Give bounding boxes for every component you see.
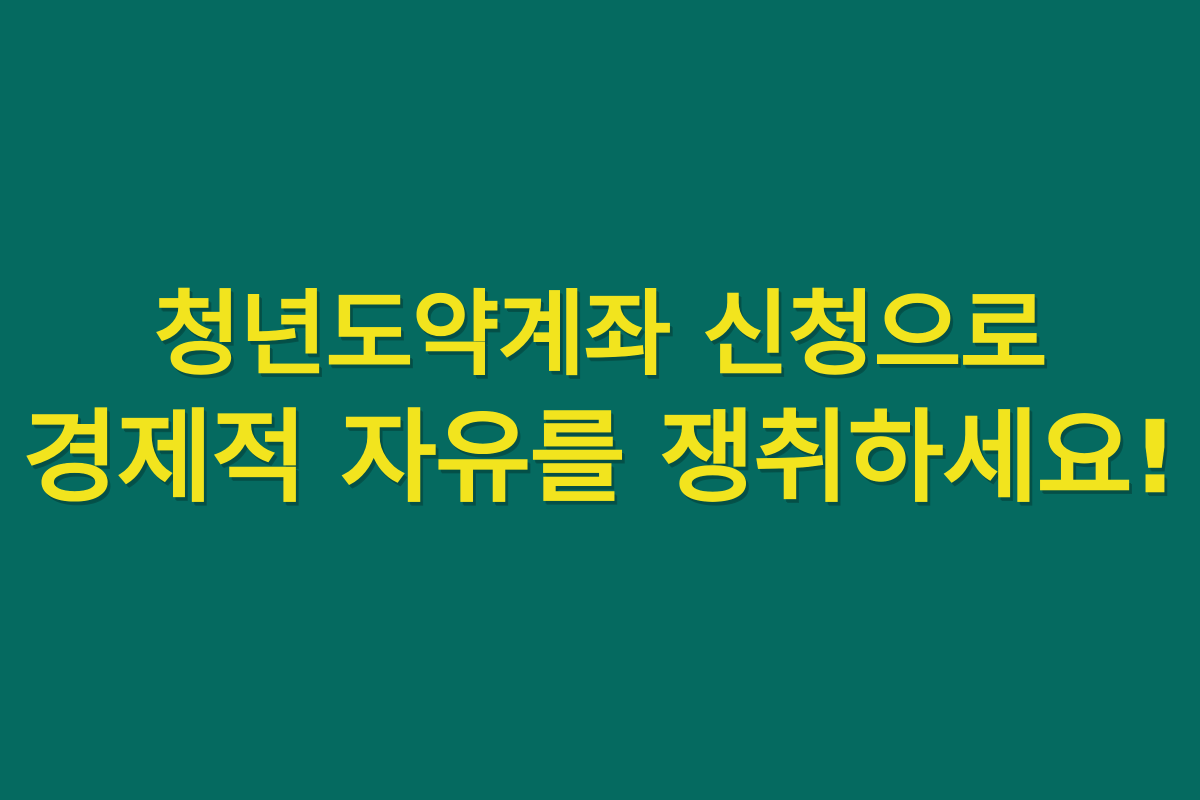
headline-line-2: 경제적 자유를 쟁취하세요! — [0, 398, 1200, 518]
headline-block: 청년도약계좌 신청으로 경제적 자유를 쟁취하세요! — [0, 276, 1200, 518]
headline-line-1: 청년도약계좌 신청으로 — [0, 276, 1200, 394]
promo-banner: 청년도약계좌 신청으로 경제적 자유를 쟁취하세요! — [0, 0, 1200, 800]
